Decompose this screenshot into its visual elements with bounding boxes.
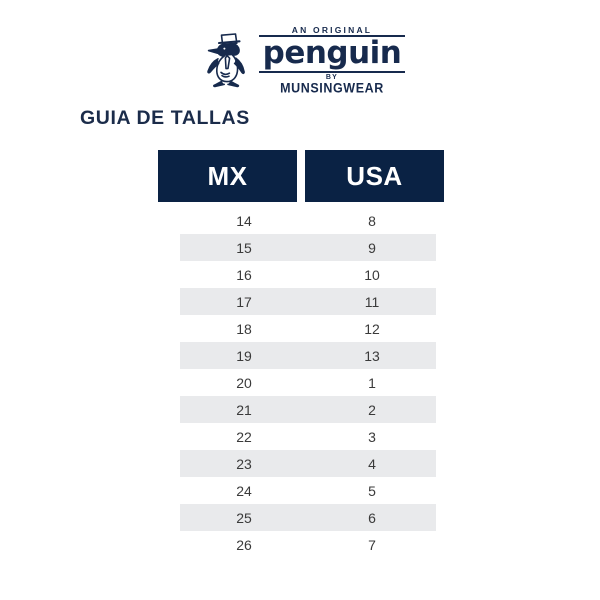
logo-line-bottom: MUNSINGWEAR (280, 81, 384, 95)
logo-wordmark: AN ORIGINAL penguin BY MUNSINGWEAR (259, 26, 406, 94)
cell-mx: 14 (180, 213, 308, 229)
cell-usa: 12 (308, 321, 436, 337)
cell-usa: 6 (308, 510, 436, 526)
table-header-row: MX USA (158, 150, 444, 202)
table-header-mx: MX (158, 150, 297, 202)
page-title: GUIA DE TALLAS (80, 107, 250, 130)
table-row: 1711 (180, 288, 436, 315)
cell-usa: 9 (308, 240, 436, 256)
cell-mx: 17 (180, 294, 308, 310)
cell-usa: 1 (308, 375, 436, 391)
cell-mx: 25 (180, 510, 308, 526)
cell-usa: 4 (308, 456, 436, 472)
cell-mx: 20 (180, 375, 308, 391)
table-row: 1610 (180, 261, 436, 288)
cell-usa: 13 (308, 348, 436, 364)
table-body: 1481591610171118121913201212223234245256… (180, 202, 436, 558)
table-header-usa: USA (305, 150, 444, 202)
brand-logo: AN ORIGINAL penguin BY MUNSINGWEAR (0, 26, 600, 94)
table-row: 256 (180, 504, 436, 531)
cell-mx: 21 (180, 402, 308, 418)
table-row: 201 (180, 369, 436, 396)
cell-usa: 5 (308, 483, 436, 499)
table-row: 212 (180, 396, 436, 423)
table-row: 1812 (180, 315, 436, 342)
logo-brand: penguin (263, 35, 402, 71)
table-row: 1913 (180, 342, 436, 369)
cell-usa: 10 (308, 267, 436, 283)
cell-usa: 8 (308, 213, 436, 229)
cell-mx: 15 (180, 240, 308, 256)
cell-mx: 22 (180, 429, 308, 445)
cell-usa: 2 (308, 402, 436, 418)
logo-brand-wrap: penguin (259, 37, 406, 70)
cell-mx: 19 (180, 348, 308, 364)
logo-line-top: AN ORIGINAL (292, 26, 372, 34)
table-row: 234 (180, 450, 436, 477)
cell-mx: 24 (180, 483, 308, 499)
cell-mx: 26 (180, 537, 308, 553)
cell-mx: 18 (180, 321, 308, 337)
table-row: 223 (180, 423, 436, 450)
table-row: 159 (180, 234, 436, 261)
logo-inner: AN ORIGINAL penguin BY MUNSINGWEAR (195, 26, 406, 94)
cell-mx: 16 (180, 267, 308, 283)
table-row: 148 (180, 207, 436, 234)
cell-usa: 11 (308, 294, 436, 310)
cell-usa: 7 (308, 537, 436, 553)
table-row: 267 (180, 531, 436, 558)
cell-mx: 23 (180, 456, 308, 472)
cell-usa: 3 (308, 429, 436, 445)
penguin-icon (195, 30, 251, 90)
table-row: 245 (180, 477, 436, 504)
size-guide-table: MX USA 148159161017111812191320121222323… (158, 150, 444, 558)
